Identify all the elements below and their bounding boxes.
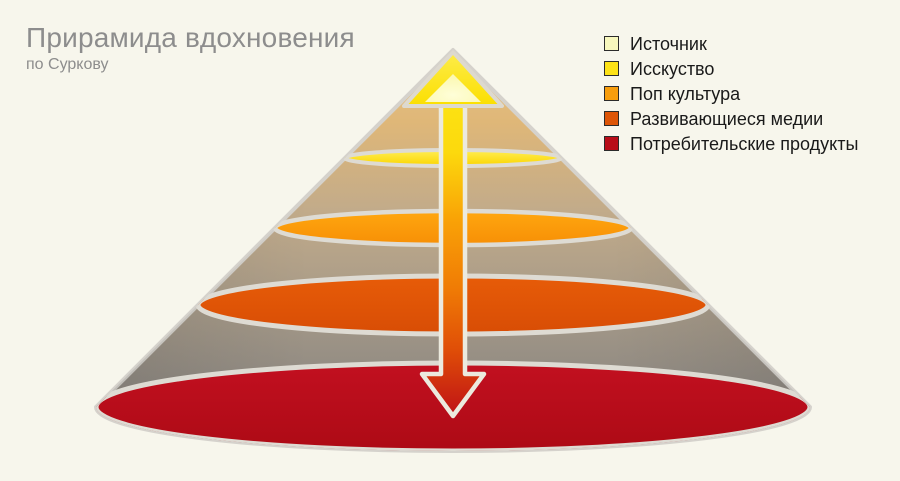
page-subtitle: по Суркову [26,55,355,75]
legend-swatch-art [604,61,619,76]
legend-item-art[interactable]: Исскуство [604,56,858,81]
legend-swatch-source [604,36,619,51]
legend-swatch-pop-culture [604,86,619,101]
legend-label-emerging-media: Развивающиеся медии [630,109,823,129]
page-title: Прирамида вдохновения [26,22,355,54]
legend-item-emerging-media[interactable]: Развивающиеся медии [604,106,858,131]
pyramid-diagram-canvas: Прирамида вдохновения по Суркову [0,0,900,481]
legend-label-consumer-products: Потребительские продукты [630,134,858,154]
legend-label-pop-culture: Поп культура [630,84,740,104]
legend-item-consumer-products[interactable]: Потребительские продукты [604,131,858,156]
legend-swatch-consumer-products [604,136,619,151]
legend-item-source[interactable]: Источник [604,31,858,56]
pyramid-level-1-source [404,52,502,106]
legend-item-pop-culture[interactable]: Поп культура [604,81,858,106]
title-block: Прирамида вдохновения по Суркову [26,22,355,75]
legend: Источник Исскуство Поп культура Развиваю… [604,31,858,156]
legend-swatch-emerging-media [604,111,619,126]
legend-label-art: Исскуство [630,59,714,79]
legend-label-source: Источник [630,34,707,54]
